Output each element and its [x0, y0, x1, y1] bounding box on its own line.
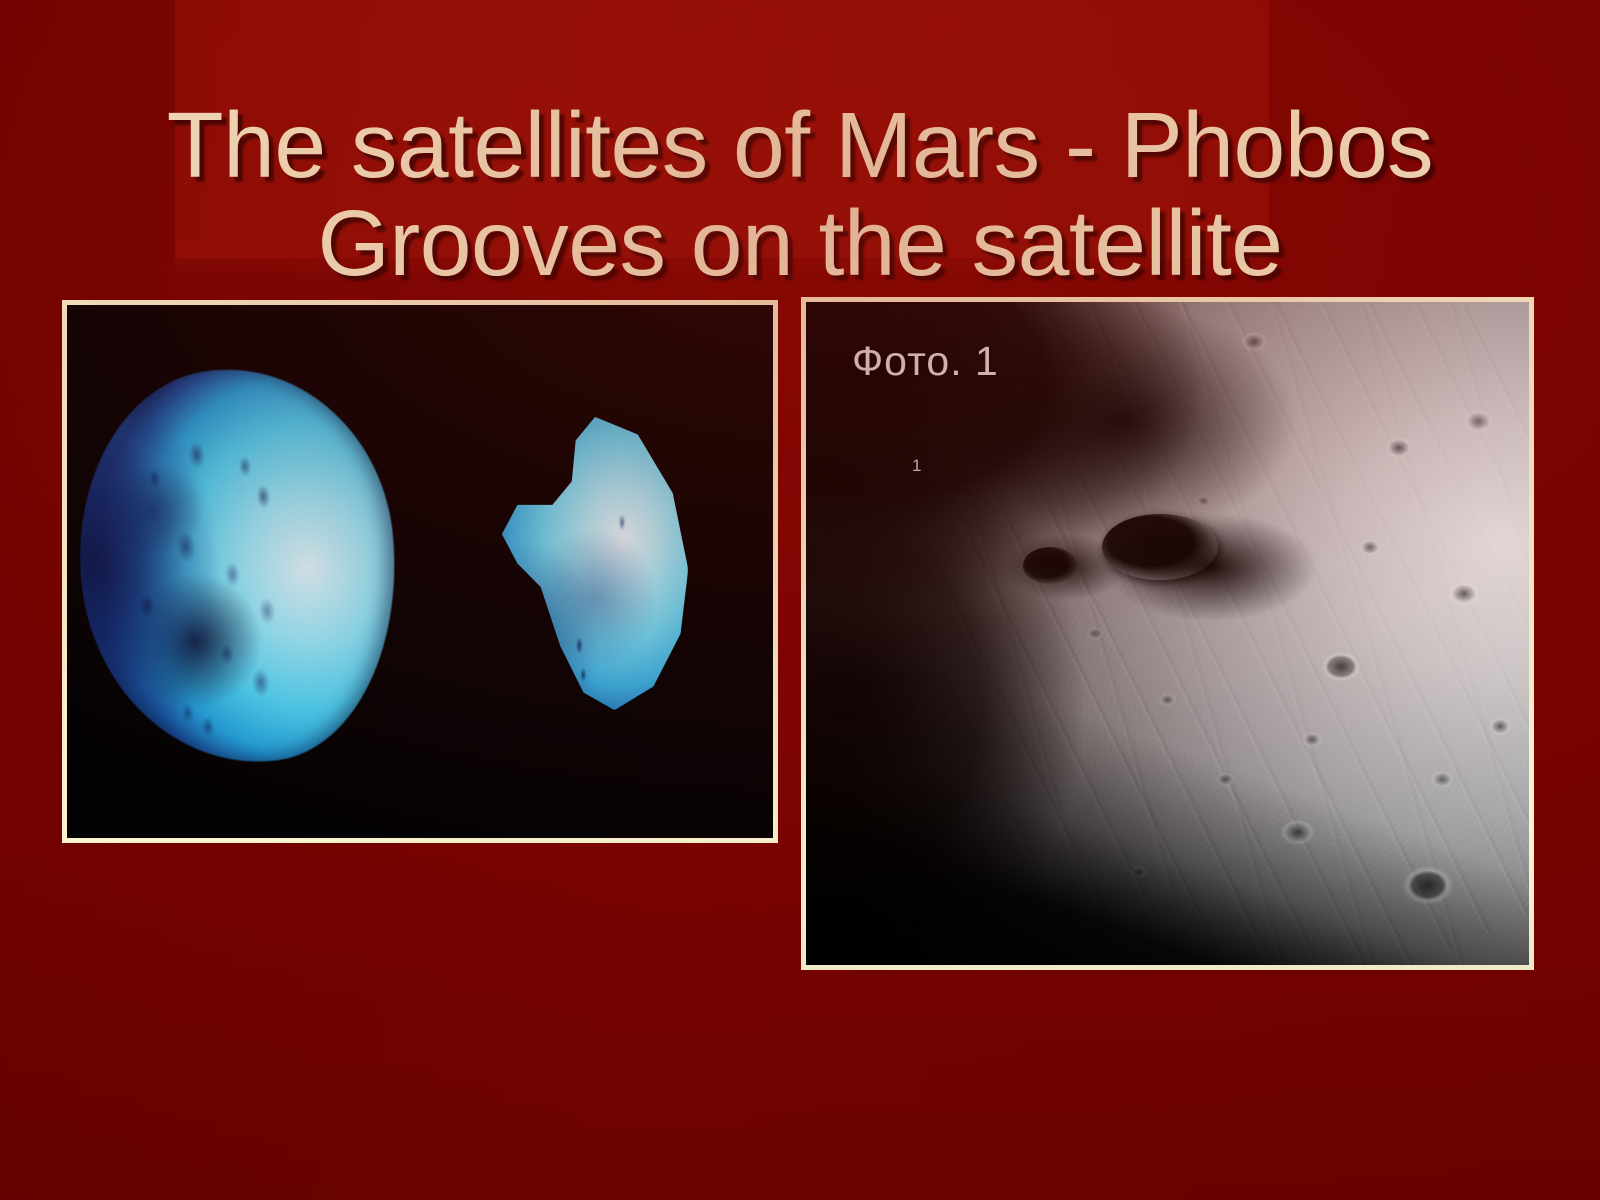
page-title: The satellites of Mars - Phobos Grooves … — [0, 96, 1600, 292]
photo-caption-label: Фото. 1 — [852, 338, 999, 385]
slide-canvas: The satellites of Mars - Phobos Grooves … — [0, 0, 1600, 1200]
title-line-2: Grooves on the satellite — [0, 194, 1600, 292]
phobos-craters — [67, 356, 412, 776]
deimos-shading — [494, 417, 688, 710]
photo-feature-marker: 1 — [912, 459, 924, 473]
phobos-surface-grain — [806, 302, 1529, 965]
figure-moons-image — [67, 305, 773, 838]
figure-moons-frame — [62, 300, 778, 843]
title-line-1: The satellites of Mars - Phobos — [0, 96, 1600, 194]
figure-surface-frame: Фото. 1 1 — [801, 297, 1534, 970]
figure-surface-image: Фото. 1 1 — [806, 302, 1529, 965]
